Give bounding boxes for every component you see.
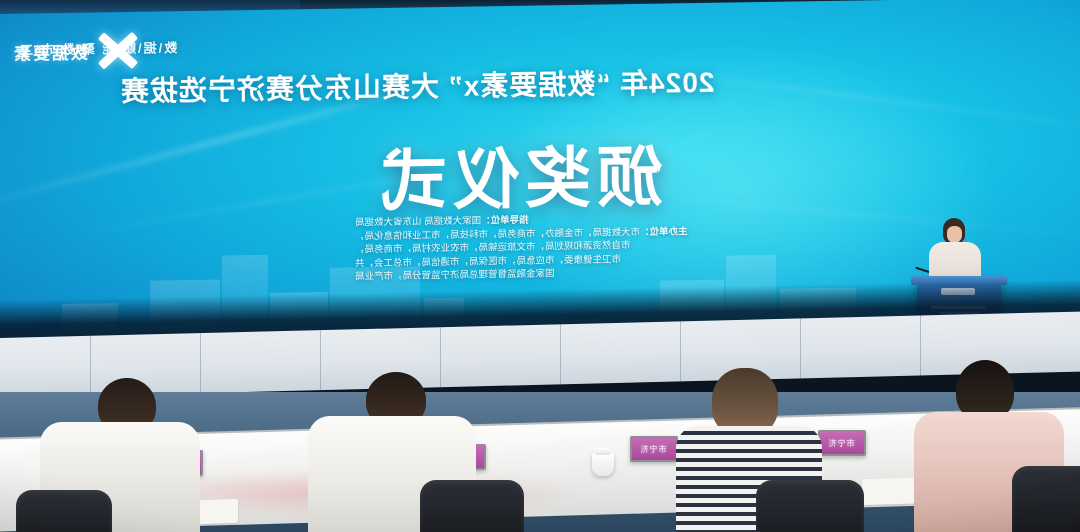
attendee-person	[300, 372, 490, 532]
led-hero-title: 颁奖仪式	[375, 124, 663, 225]
x-logo-icon	[98, 30, 138, 71]
host-unit-label: 主办单位：	[640, 226, 688, 238]
attendee-person	[660, 368, 840, 532]
led-brand-text: 数据要素	[12, 38, 88, 64]
office-chair	[420, 480, 524, 532]
stage-photo-scene: 数\据\赋\能 聚\数\市\工 2024年 “数据要素x” 大赛山东分赛济宁选拔…	[0, 0, 1080, 532]
speaker-face	[947, 226, 962, 243]
attendee-person	[30, 378, 210, 532]
led-event-title: 2024年 “数据要素x” 大赛山东分赛济宁选拔赛	[120, 61, 714, 110]
guidance-unit-value: 国家大数据局 山东省大数据局	[355, 215, 481, 228]
guidance-unit-label: 指导单位：	[481, 215, 529, 227]
attendee-person	[900, 360, 1080, 532]
led-organizer-block: 指导单位：国家大数据局 山东省大数据局 主办单位：市大数据局，市金融办，市商务局…	[355, 210, 775, 284]
office-chair	[16, 490, 112, 532]
led-brand-lockup: 数据要素	[12, 30, 138, 72]
office-chair	[1012, 466, 1080, 532]
host-unit-line-4: 国家金融监督管理总局济宁监管分局，市产业局	[355, 268, 555, 282]
office-chair	[756, 480, 864, 532]
host-unit-line-3: 市卫生健康委，市应急局，市医保局，市通信局，市总工会，共	[355, 254, 621, 269]
teacup	[592, 452, 614, 476]
